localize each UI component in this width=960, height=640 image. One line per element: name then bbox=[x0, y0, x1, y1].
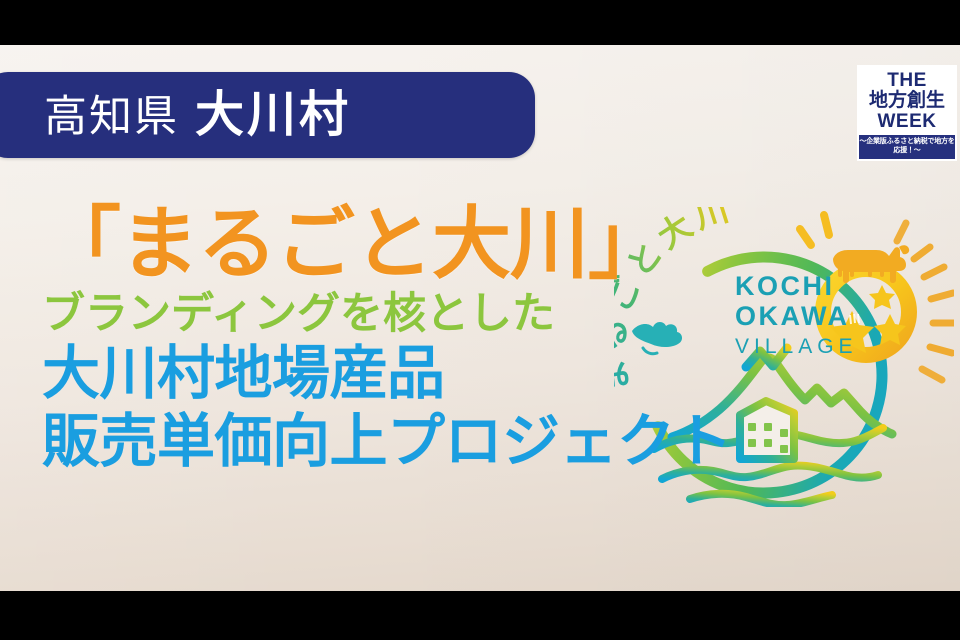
letterbox-top bbox=[0, 0, 960, 45]
presentation-slide: 高知県 大川村 THE 地方創生 WEEK 〜企業版ふるさと納税で地方を応援！〜… bbox=[0, 0, 960, 640]
event-badge-the: THE bbox=[887, 71, 927, 91]
letterbox-bottom bbox=[0, 591, 960, 640]
headline-main-line1: 大川村地場産品 bbox=[42, 341, 702, 407]
event-badge-chiho-sosei: 地方創生 bbox=[869, 91, 945, 112]
svg-text:KOCHI: KOCHI bbox=[735, 271, 835, 301]
logo-house-icon bbox=[740, 401, 794, 459]
headline-title: 「まるごと大川」 bbox=[42, 203, 702, 284]
svg-text:OKAWA: OKAWA bbox=[735, 301, 850, 331]
village-name: 大川村 bbox=[195, 91, 351, 140]
headline-block: 「まるごと大川」 ブランディングを核とした 大川村地場産品 販売単価向上プロジェ… bbox=[42, 203, 702, 475]
slide-stage: 高知県 大川村 THE 地方創生 WEEK 〜企業版ふるさと納税で地方を応援！〜… bbox=[0, 45, 960, 591]
event-badge: THE 地方創生 WEEK 〜企業版ふるさと納税で地方を応援！〜 bbox=[857, 65, 957, 161]
region-badge-inner: 高知県 大川村 bbox=[0, 91, 351, 140]
region-badge: 高知県 大川村 bbox=[0, 72, 535, 158]
headline-subtitle: ブランディングを核とした bbox=[42, 290, 702, 338]
headline-main-line2: 販売単価向上プロジェクト bbox=[42, 409, 702, 475]
prefecture-name: 高知県 bbox=[44, 96, 179, 139]
logo-sun-rays-left-icon bbox=[800, 215, 829, 245]
event-badge-tagline: 〜企業版ふるさと納税で地方を応援！〜 bbox=[859, 135, 955, 159]
event-badge-week: WEEK bbox=[878, 112, 937, 132]
svg-text:VILLAGE: VILLAGE bbox=[735, 335, 858, 358]
